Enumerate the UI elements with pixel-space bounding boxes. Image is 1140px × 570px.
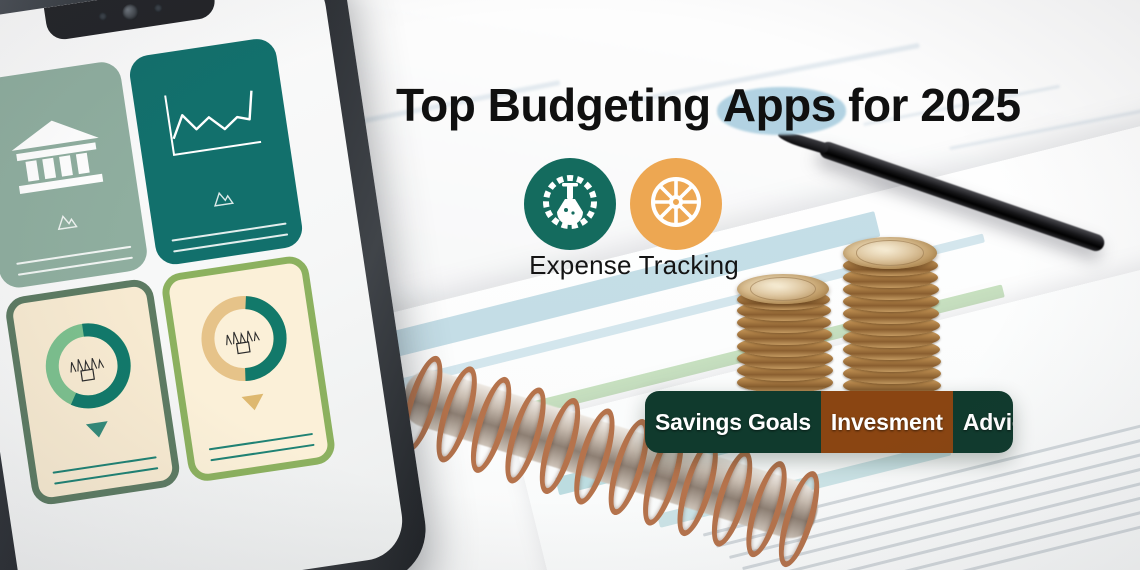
donut-card-left[interactable] [3,277,181,507]
pill-segment-invesment[interactable]: Invesment [821,391,953,453]
camera-sensor-icon [154,4,163,13]
badge-expense[interactable] [524,158,616,250]
badge-tracking[interactable] [630,158,722,250]
gear-flask-icon [541,173,599,236]
bank-card[interactable] [0,60,149,290]
card-text-placeholder [207,424,314,461]
front-camera-icon [121,3,139,21]
title-highlight: Apps [723,79,836,131]
chart-card[interactable] [127,36,305,266]
line-chart-icon [157,80,268,173]
pill-segment-advice[interactable]: Advice [953,391,1013,453]
feature-badges [524,158,722,250]
wheel-spokes-icon [647,173,705,236]
mountain-glyph-icon [55,211,80,235]
mountain-glyph-icon [211,188,236,212]
donut-chart-icon [189,284,299,398]
donut-chart-icon [34,311,144,425]
donut-card-right[interactable] [159,253,337,483]
card-text-placeholder [170,213,288,252]
card-text-placeholder [15,236,133,275]
camera-sensor-icon [98,12,107,21]
bank-building-icon [6,112,109,204]
triangle-marker-icon [241,394,265,412]
pill-segment-savings-goals[interactable]: Savings Goals [645,391,821,453]
feature-pill-bar: Savings Goals Invesment Advice [645,391,1013,453]
app-card-grid [0,36,337,507]
card-text-placeholder [51,447,158,484]
triangle-marker-icon [86,421,110,439]
title-part-one: Top Budgeting [396,79,723,131]
page-title: Top Budgeting Apps for 2025 [396,78,1021,132]
phone-notch [44,0,217,42]
badges-caption: Expense Tracking [514,250,754,281]
poster-canvas: Top Budgeting Apps for 2025 [0,0,1140,570]
title-part-two: for 2025 [836,79,1021,131]
